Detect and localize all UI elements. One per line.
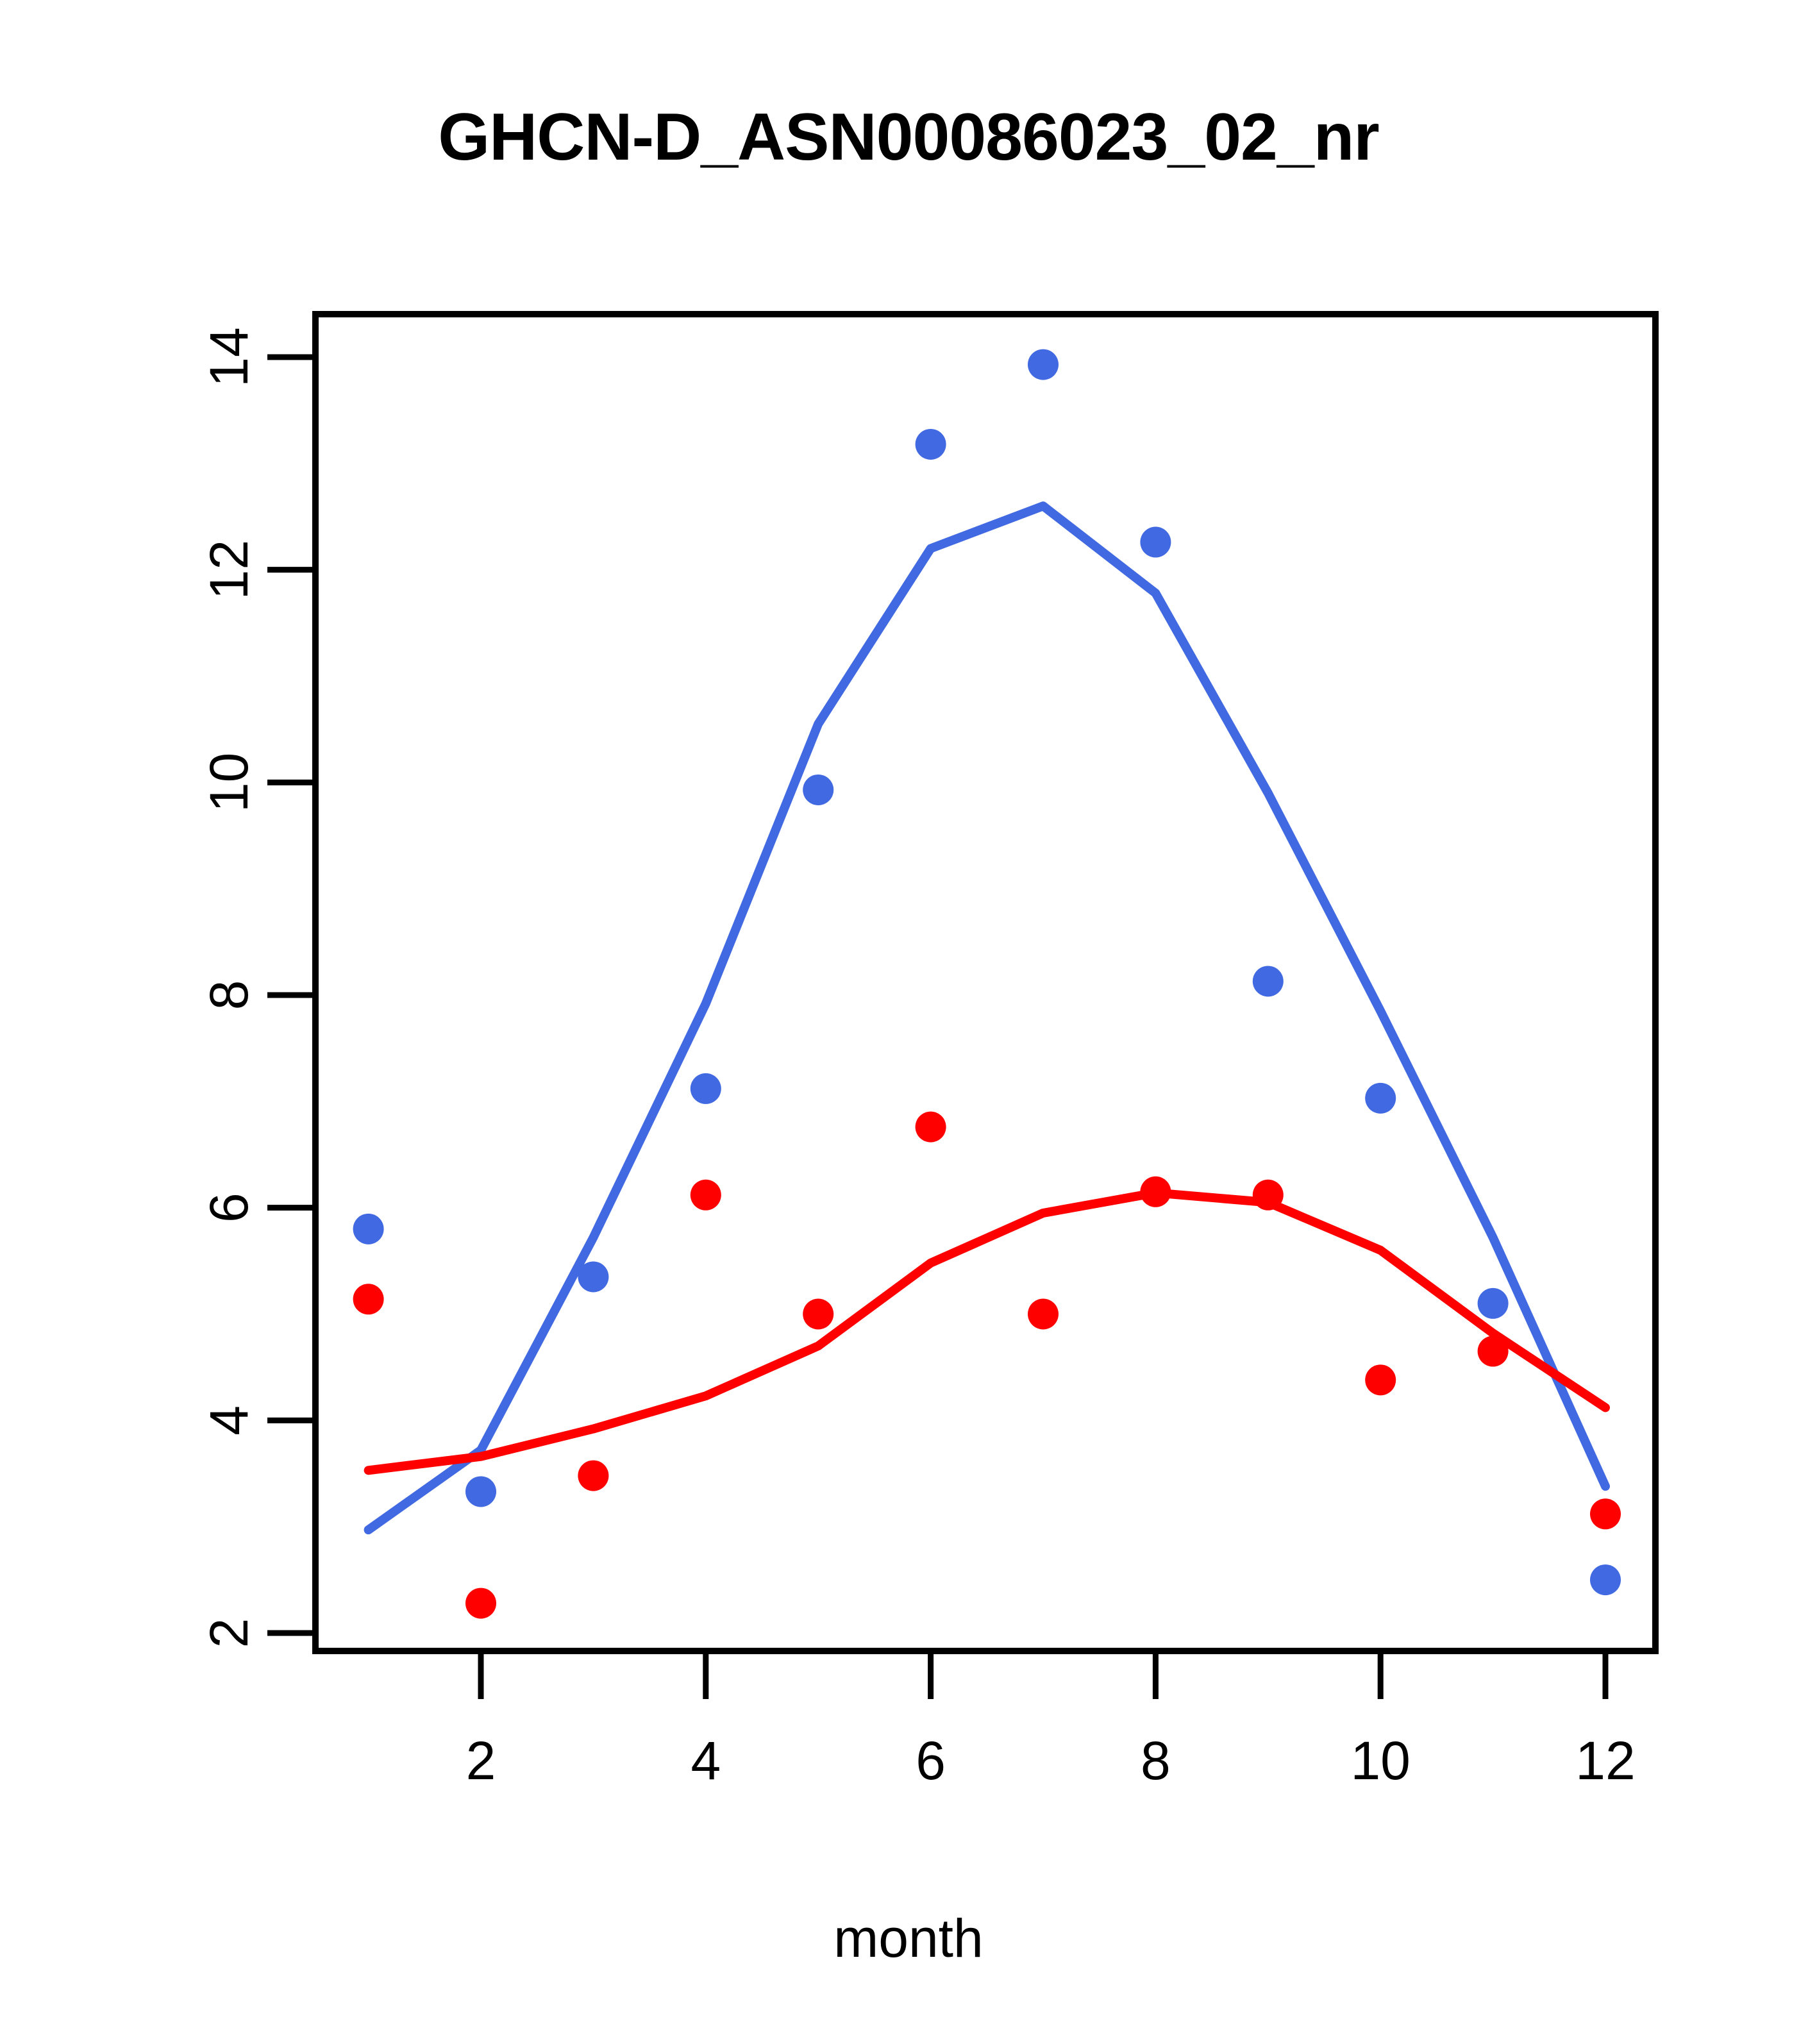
- x-axis-label: month: [0, 1907, 1817, 1970]
- data-point-red: [578, 1461, 608, 1491]
- data-point-blue: [1478, 1288, 1509, 1319]
- data-point-red: [465, 1588, 496, 1619]
- y-tick-label: 8: [199, 980, 259, 1010]
- y-tick-label: 2: [199, 1618, 259, 1648]
- tick-labels: 246810122468101214: [199, 327, 1636, 1791]
- data-point-blue: [691, 1073, 721, 1104]
- y-tick-label: 4: [199, 1405, 259, 1436]
- data-point-red: [1253, 1180, 1284, 1210]
- plot-data: [353, 349, 1621, 1619]
- data-point-blue: [578, 1261, 608, 1292]
- data-point-red: [1478, 1336, 1509, 1367]
- data-point-blue: [1253, 966, 1284, 996]
- x-tick-label: 2: [466, 1730, 496, 1791]
- data-point-red: [916, 1112, 946, 1143]
- data-point-red: [1590, 1498, 1621, 1529]
- x-tick-label: 6: [916, 1730, 946, 1791]
- x-tick-label: 8: [1141, 1730, 1171, 1791]
- data-point-blue: [803, 775, 833, 805]
- data-point-blue: [1140, 527, 1171, 558]
- data-point-red: [353, 1284, 384, 1314]
- x-tick-label: 12: [1575, 1730, 1635, 1791]
- scatter-plot-figure: 246810122468101214: [0, 0, 1817, 2044]
- y-tick-label: 14: [199, 327, 259, 387]
- x-tick-label: 10: [1350, 1730, 1410, 1791]
- data-point-blue: [353, 1214, 384, 1244]
- y-tick-label: 10: [199, 753, 259, 812]
- x-tick-label: 4: [691, 1730, 721, 1791]
- data-point-red: [1365, 1364, 1396, 1395]
- data-point-red: [691, 1180, 721, 1210]
- data-point-red: [1140, 1177, 1171, 1207]
- trend-line-red: [369, 1193, 1605, 1470]
- data-point-blue: [1590, 1564, 1621, 1595]
- y-tick-label: 12: [199, 540, 259, 599]
- y-tick-label: 6: [199, 1193, 259, 1223]
- trend-line-blue: [369, 506, 1605, 1530]
- chart-page: GHCN-D_ASN00086023_02_nr 246810122468101…: [0, 0, 1817, 2044]
- data-point-blue: [465, 1476, 496, 1507]
- data-point-blue: [1365, 1083, 1396, 1114]
- data-point-blue: [916, 429, 946, 460]
- data-point-blue: [1028, 349, 1059, 380]
- data-point-red: [1028, 1299, 1059, 1330]
- data-point-red: [803, 1299, 833, 1330]
